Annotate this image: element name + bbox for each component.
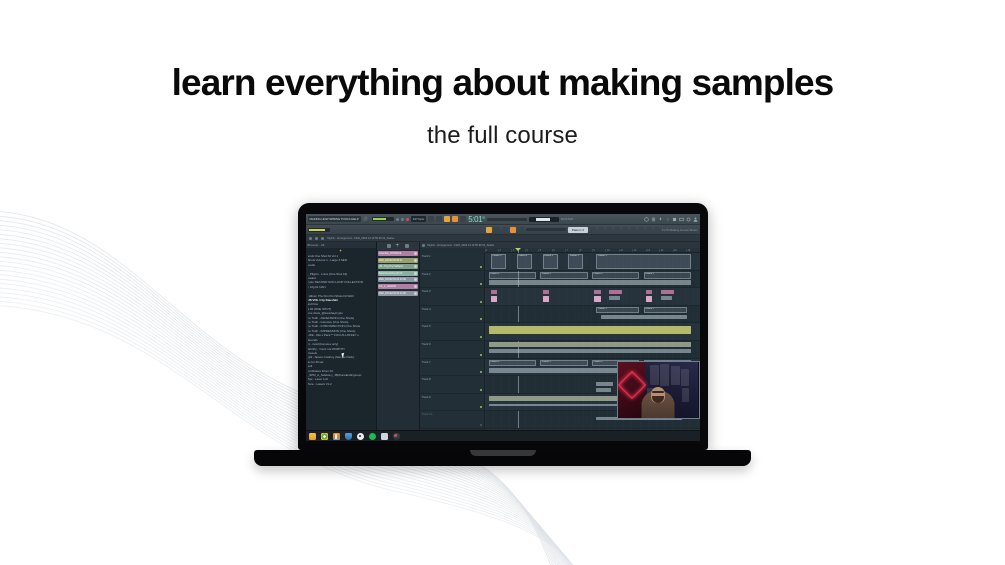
- playlist-file-path: Playlist - Arrangement - 1932_0923 13 10…: [427, 244, 495, 247]
- playlist-clip[interactable]: [543, 290, 549, 294]
- playlist-clip[interactable]: Pattern 3: [517, 254, 532, 269]
- track-enable-icon[interactable]: [480, 354, 482, 356]
- tempo-chip[interactable]: 137 bpm: [411, 216, 427, 222]
- playlist-panel[interactable]: Playlist - Arrangement - 1932_0923 13 10…: [420, 242, 700, 430]
- paint-tool-icon[interactable]: [486, 227, 492, 233]
- browser-icon[interactable]: [686, 217, 691, 222]
- track-enable-icon[interactable]: [480, 266, 482, 268]
- channel-label: SMK_DRUM 03 09 13 06: [379, 292, 414, 295]
- track-enable-icon[interactable]: [480, 406, 482, 408]
- laptop-screen: MAKING HOW SPRING TOOLS HELP 137 bpm: [306, 214, 700, 441]
- step-sequencer-icon[interactable]: [606, 227, 612, 233]
- file-browser-panel[interactable]: Browser - All ✦ ands One Shot Kit Vol 1S…: [306, 242, 377, 430]
- hero-text-block: learn everything about making samples th…: [0, 62, 1005, 150]
- playlist-clip[interactable]: Pattern 3: [489, 360, 536, 366]
- playlist-track-row[interactable]: Track 3: [420, 288, 700, 306]
- playlist-track-lane[interactable]: [485, 341, 700, 358]
- channel-row[interactable]: MS - Tiny Tiny Selfspot: [378, 264, 418, 269]
- daw-window: MAKING HOW SPRING TOOLS HELP 137 bpm: [306, 214, 700, 441]
- channel-label: SMK_DRUM 02 08 11: [379, 259, 414, 262]
- master-knob-icon[interactable]: [363, 216, 370, 223]
- page-title: learn everything about making samples: [0, 62, 1005, 103]
- rack-edit-icon[interactable]: [405, 244, 409, 248]
- pan-label: MASTER: [561, 217, 574, 221]
- channel-label: Downtrek_KPSNGNL: [379, 252, 414, 255]
- daw-hint-bar: Playlist - Arrangement - 1932_0923 13 10…: [306, 235, 700, 242]
- playlist-track-lane[interactable]: Pattern 3Pattern 3Pattern 3Pattern 3Patt…: [485, 253, 700, 270]
- metronome-icon[interactable]: [396, 218, 399, 221]
- channel-led-icon[interactable]: [414, 265, 417, 268]
- select-tool-icon[interactable]: [510, 227, 516, 233]
- track-enable-icon[interactable]: [480, 424, 482, 426]
- ruler-tick: 2: [498, 249, 511, 252]
- playlist-clip[interactable]: Pattern 3: [491, 254, 506, 269]
- svg-text:?: ?: [666, 217, 668, 221]
- ruler-tick: 10: [605, 249, 618, 252]
- ruler-tick: 15: [673, 249, 686, 252]
- channel-label: Bass Recording (3) 02: [379, 272, 414, 275]
- record-icon[interactable]: [406, 218, 409, 221]
- track-enable-icon[interactable]: [480, 318, 482, 320]
- time-value: 5:01: [468, 215, 482, 224]
- playlist-track-row[interactable]: Track 2Pattern 3Pattern 3Pattern 3Patter…: [420, 271, 700, 289]
- ruler-tick: 16: [686, 249, 699, 252]
- ruler-tick: 13: [646, 249, 659, 252]
- document-icon[interactable]: [381, 433, 388, 440]
- recorder-icon[interactable]: [393, 433, 400, 440]
- snap-icon[interactable]: [460, 216, 466, 222]
- mute-tool-icon[interactable]: [518, 227, 524, 233]
- playlist-clip[interactable]: [543, 296, 549, 302]
- daw-status-text: FL75 Making House Music: [662, 228, 698, 232]
- playlist-clip[interactable]: Pattern 3: [540, 360, 587, 366]
- piano-roll-icon[interactable]: [679, 217, 684, 222]
- ruler-tick: 9: [592, 249, 605, 252]
- acoustic-panel: [650, 365, 659, 385]
- playlist-clip[interactable]: Pattern 3: [644, 307, 687, 313]
- playlist-clip[interactable]: [489, 342, 691, 347]
- track-enable-icon[interactable]: [480, 301, 482, 303]
- draw-tool-icon[interactable]: [494, 227, 500, 233]
- playlist-clip[interactable]: [661, 296, 672, 300]
- playlist-icon[interactable]: [590, 227, 596, 233]
- playlist-clip[interactable]: Pattern 3: [592, 272, 639, 279]
- playlist-clip[interactable]: [609, 296, 620, 300]
- playlist-clip[interactable]: [596, 388, 611, 392]
- playlist-clip[interactable]: Pattern 3: [543, 254, 558, 269]
- playlist-path: Playlist - Arrangement - 1932_0923 13 10…: [327, 237, 395, 240]
- hint-cut-icon[interactable]: [321, 237, 324, 240]
- ruler-tick: 12: [632, 249, 645, 252]
- playlist-clip[interactable]: [661, 290, 674, 294]
- playlist-track-label[interactable]: Track 7: [420, 359, 485, 376]
- playlist-track-lane[interactable]: Pattern 3Pattern 3: [485, 306, 700, 323]
- windows-taskbar[interactable]: [306, 430, 700, 441]
- playlist-track-row[interactable]: Track 4Pattern 3Pattern 3: [420, 306, 700, 324]
- playlist-track-label[interactable]: Track 5: [420, 323, 485, 340]
- slice-tool-icon[interactable]: [502, 227, 508, 233]
- ruler-tick: 6: [552, 249, 565, 252]
- rack-add-icon[interactable]: +: [396, 244, 400, 248]
- master-volume-slider[interactable]: [372, 217, 394, 221]
- ruler-tick: 11: [619, 249, 632, 252]
- playlist-track-label[interactable]: Track 8: [420, 376, 485, 393]
- position-bar[interactable]: [487, 218, 527, 221]
- redo-icon[interactable]: [654, 227, 660, 233]
- playlist-track-label[interactable]: Track 2: [420, 271, 485, 288]
- ruler-tick: 1: [485, 249, 498, 252]
- mic-icon[interactable]: [658, 217, 663, 222]
- secondary-slider[interactable]: [308, 228, 330, 232]
- playlist-clip[interactable]: Pattern 3: [568, 254, 583, 269]
- channel-led-icon[interactable]: [414, 272, 417, 275]
- acoustic-panel: [660, 364, 669, 386]
- playlist-clip[interactable]: [489, 326, 691, 334]
- playlist-clip[interactable]: Pattern 3: [644, 272, 691, 279]
- hint-nav-icon[interactable]: [309, 237, 312, 240]
- channel-rack-toolbar: +: [377, 242, 419, 250]
- playlist-track-label[interactable]: Track 4: [420, 306, 485, 323]
- ruler-tick: 7: [565, 249, 578, 252]
- file-explorer-icon[interactable]: [309, 433, 316, 440]
- ruler-tick: 5: [538, 249, 551, 252]
- chrome-icon[interactable]: [321, 433, 328, 440]
- plugin-picker-icon[interactable]: [630, 227, 636, 233]
- playlist-clip[interactable]: Pattern 3: [596, 307, 639, 313]
- mixer-window-icon[interactable]: [614, 227, 620, 233]
- channel-row[interactable]: SMK_DRUM 03 09 13 06: [378, 291, 418, 296]
- midi-icon[interactable]: [436, 216, 442, 222]
- hint-zoom-icon[interactable]: [315, 237, 318, 240]
- playlist-clip[interactable]: [489, 280, 691, 285]
- settings-icon[interactable]: [357, 433, 364, 440]
- page-subtitle: the full course: [0, 122, 1005, 150]
- time-superscript: 00: [482, 215, 485, 219]
- playlist-clip[interactable]: [596, 382, 613, 386]
- help-icon[interactable]: ?: [665, 217, 670, 222]
- laptop-base: [254, 450, 751, 466]
- daw-main-toolbar: MAKING HOW SPRING TOOLS HELP 137 bpm: [306, 214, 700, 225]
- channel-led-icon[interactable]: [414, 259, 417, 262]
- playlist-clip[interactable]: Pattern 3: [540, 272, 587, 279]
- time-display: 5:0100: [468, 215, 485, 224]
- rack-list-icon[interactable]: [387, 244, 391, 248]
- channel-row[interactable]: SMK_DRUM 03 09 13 06: [378, 277, 418, 282]
- ruler-tick: 14: [659, 249, 672, 252]
- channel-label: MS - Tiny Tiny Selfspot: [379, 265, 414, 268]
- playlist-menu-icon[interactable]: [422, 244, 425, 247]
- playlist-track-row[interactable]: Track 6: [420, 341, 700, 359]
- acoustic-panel: [682, 388, 689, 402]
- track-enable-icon[interactable]: [480, 336, 482, 338]
- channel-led-icon[interactable]: [414, 278, 417, 281]
- browser-file-list[interactable]: ands One Shot Kit Vol 1Shots Volume 1 - …: [306, 253, 376, 387]
- channel-led-icon[interactable]: [414, 285, 417, 288]
- browser-window-icon[interactable]: [622, 227, 628, 233]
- daw-secondary-toolbar: Pattern 3 FL75 Making House Music: [306, 225, 700, 235]
- track-enable-icon[interactable]: [480, 389, 482, 391]
- snap-dropdown-icon[interactable]: [526, 228, 566, 231]
- channel-led-icon[interactable]: [414, 292, 417, 295]
- save-icon[interactable]: [672, 217, 677, 222]
- channel-led-icon[interactable]: [414, 252, 417, 255]
- playlist-clip[interactable]: [594, 296, 600, 302]
- playlist-track-row[interactable]: Track 1Pattern 3Pattern 3Pattern 3Patter…: [420, 253, 700, 271]
- channel-row[interactable]: SMK_DRUM 02 08 11: [378, 258, 418, 263]
- playlist-track-label[interactable]: Track 6: [420, 341, 485, 358]
- ruler-tick: 4: [525, 249, 538, 252]
- track-enable-icon[interactable]: [480, 283, 482, 285]
- channel-label: KIC_A_HARRIS: [379, 285, 414, 288]
- channel-row[interactable]: Downtrek_KPSNGNL: [378, 251, 418, 256]
- fl-studio-icon[interactable]: [333, 433, 340, 440]
- settings-gear-icon[interactable]: [644, 217, 649, 222]
- playlist-clip[interactable]: [491, 290, 497, 294]
- acoustic-panel: [681, 369, 689, 386]
- playlist-clip[interactable]: [646, 296, 652, 302]
- song-mode-icon[interactable]: [452, 216, 458, 222]
- browser-file-item[interactable]: Tone - Lasers V1.2: [308, 382, 374, 386]
- laptop-mockup: MAKING HOW SPRING TOOLS HELP 137 bpm: [254, 203, 751, 466]
- playlist-track-lane[interactable]: [485, 288, 700, 305]
- user-icon[interactable]: [693, 217, 698, 222]
- playlist-track-lane[interactable]: [485, 323, 700, 340]
- playlist-track-row[interactable]: Track 5: [420, 323, 700, 341]
- webcam-overlay: [617, 361, 700, 419]
- playlist-clip[interactable]: Pattern 3: [489, 272, 536, 279]
- ruler-tick: 8: [579, 249, 592, 252]
- playlist-track-label[interactable]: Track 3: [420, 288, 485, 305]
- acoustic-panel: [671, 366, 680, 385]
- security-icon[interactable]: [345, 433, 352, 440]
- channel-row[interactable]: Bass Recording (3) 02: [378, 271, 418, 276]
- spotify-icon[interactable]: [369, 433, 376, 440]
- playlist-clip[interactable]: [594, 290, 600, 294]
- track-enable-icon[interactable]: [480, 371, 482, 373]
- channel-label: SMK_DRUM 03 09 13 06: [379, 278, 414, 281]
- undo-icon[interactable]: [646, 227, 652, 233]
- playlist-clip[interactable]: Pattern 3: [596, 254, 691, 269]
- playlist-track-label[interactable]: Track 10: [420, 411, 485, 428]
- cpu-meter-icon: [529, 217, 559, 222]
- playlist-track-lane[interactable]: Pattern 3Pattern 3Pattern 3Pattern 3: [485, 271, 700, 288]
- typing-keyboard-icon[interactable]: [428, 216, 434, 222]
- channel-list[interactable]: Downtrek_KPSNGNLSMK_DRUM 02 08 11MS - Ti…: [377, 250, 419, 296]
- pattern-selector[interactable]: Pattern 3: [568, 227, 588, 233]
- playlist-clip[interactable]: [489, 349, 691, 353]
- laptop-notch: [470, 450, 536, 456]
- playlist-track-label[interactable]: Track 1: [420, 253, 485, 270]
- pattern-mode-icon[interactable]: [444, 216, 450, 222]
- mixer-icon[interactable]: [651, 217, 656, 222]
- playlist-clip[interactable]: [646, 290, 652, 294]
- laptop-lid: MAKING HOW SPRING TOOLS HELP 137 bpm: [298, 203, 708, 450]
- piano-roll-window-icon[interactable]: [598, 227, 604, 233]
- playlist-clip[interactable]: [601, 315, 687, 319]
- landing-page: learn everything about making samples th…: [0, 0, 1005, 565]
- effects-icon[interactable]: [638, 227, 644, 233]
- channel-row[interactable]: KIC_A_HARRIS: [378, 284, 418, 289]
- wait-icon[interactable]: [401, 218, 404, 221]
- channel-rack-panel[interactable]: + Downtrek_KPSNGNLSMK_DRUM 02 08 11MS - …: [377, 242, 420, 430]
- project-title: MAKING HOW SPRING TOOLS HELP: [308, 216, 361, 222]
- playlist-track-label[interactable]: Track 9: [420, 394, 485, 411]
- playlist-clip[interactable]: [609, 290, 622, 294]
- playlist-clip[interactable]: [491, 296, 497, 302]
